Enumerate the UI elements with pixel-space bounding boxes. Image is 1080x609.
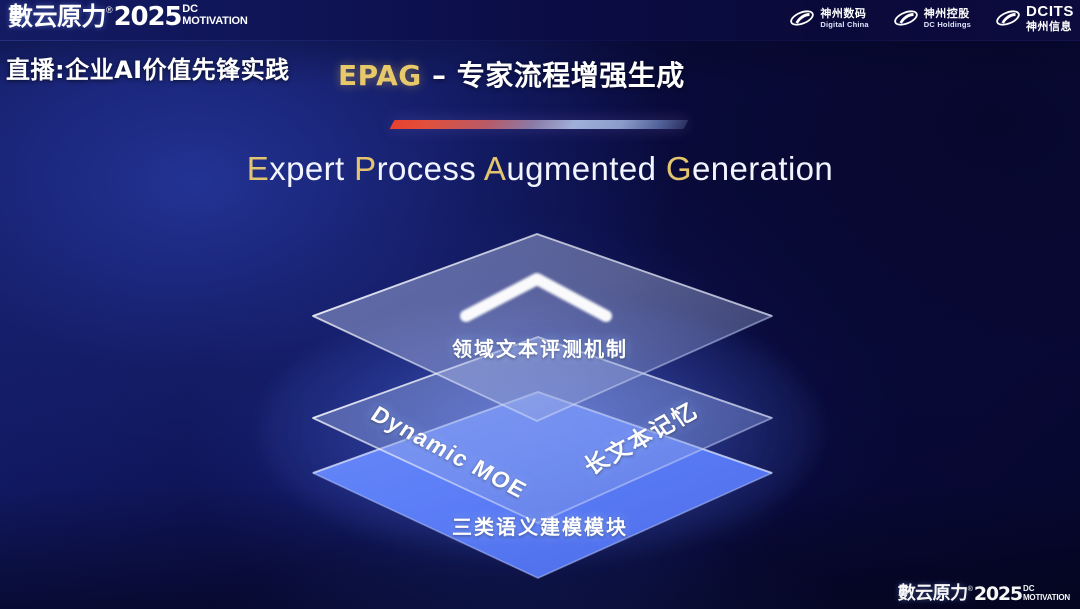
- partner-logo-dc-holdings: 神州控股 DC Holdings: [893, 7, 971, 29]
- partner-name-cn: 神州信息: [1026, 21, 1074, 32]
- footer-logo-cn: 數云原力: [898, 583, 968, 605]
- partner-name-cn: 神州数码: [820, 8, 868, 19]
- subtitle-part: P: [354, 150, 376, 187]
- subtitle-part: xpert: [269, 150, 354, 187]
- subtitle-part: A: [484, 150, 506, 187]
- chevron-up-icon: [466, 279, 606, 316]
- layer-top-label: 领域文本评测机制: [452, 333, 628, 362]
- brand-logo-dc: DC: [182, 4, 247, 15]
- partner-name-en: Digital China: [820, 21, 868, 29]
- layer-middle-label-left: Dynamic MOE: [366, 401, 532, 504]
- footer-logo-dc: DC: [1023, 585, 1070, 593]
- brand-logo-dc-motivation: DC MOTIVATION: [182, 4, 247, 27]
- page-title: EPAG – 专家流程增强生成: [338, 54, 685, 94]
- footer-watermark-logo: 數云原力 ® 2025 DC MOTIVATION: [898, 583, 1070, 605]
- subtitle-part: rocess: [377, 150, 484, 187]
- layer-top-edge-highlight: [313, 234, 772, 316]
- footer-logo-year: 2025: [974, 583, 1022, 605]
- subtitle-part: E: [247, 150, 269, 187]
- partner-name-en: DCITS: [1026, 4, 1074, 19]
- live-stream-title: 直播:企业AI价值先锋实践: [6, 50, 290, 85]
- partner-logo-dcits: DCITS 神州信息: [995, 4, 1074, 32]
- brand-logo-year: 2025: [114, 2, 182, 32]
- page-title-separator: –: [422, 59, 457, 92]
- page-title-chinese: 专家流程增强生成: [457, 59, 685, 92]
- subtitle: Expert Process Augmented Generation: [0, 150, 1080, 188]
- swoosh-logo-icon: [893, 7, 919, 29]
- gradient-divider-bar: [390, 120, 689, 129]
- partner-name-en: DC Holdings: [924, 21, 971, 29]
- page-title-acronym: EPAG: [338, 59, 422, 92]
- layer-bottom-label: 三类语义建模模块: [452, 511, 628, 540]
- footer-logo-registered: ®: [968, 585, 973, 594]
- subtitle-part: G: [666, 150, 692, 187]
- brand-logo: 數云原力 ® 2025 DC MOTIVATION: [8, 2, 248, 32]
- partner-logo-group: 神州数码 Digital China 神州控股 DC Holdings DCIT…: [789, 4, 1074, 32]
- subtitle-part: ugmented: [506, 150, 666, 187]
- partner-logo-digital-china: 神州数码 Digital China: [789, 7, 868, 29]
- brand-logo-registered: ®: [106, 4, 113, 16]
- layer-top: [313, 234, 772, 421]
- footer-logo-motivation: MOTIVATION: [1023, 594, 1070, 602]
- swoosh-logo-icon: [789, 7, 815, 29]
- partner-name-cn: 神州控股: [924, 8, 971, 19]
- brand-logo-motivation: MOTIVATION: [182, 16, 247, 27]
- brand-logo-cn: 數云原力: [8, 2, 106, 32]
- subtitle-part: eneration: [692, 150, 833, 187]
- footer-logo-dc-motivation: DC MOTIVATION: [1023, 585, 1070, 602]
- slide-canvas: 數云原力 ® 2025 DC MOTIVATION 直播:企业AI价值先锋实践 …: [0, 0, 1080, 609]
- layer-top-plate: [313, 234, 772, 421]
- layer-middle-label-right: 长文本记忆: [575, 392, 704, 481]
- swoosh-logo-icon: [995, 7, 1021, 29]
